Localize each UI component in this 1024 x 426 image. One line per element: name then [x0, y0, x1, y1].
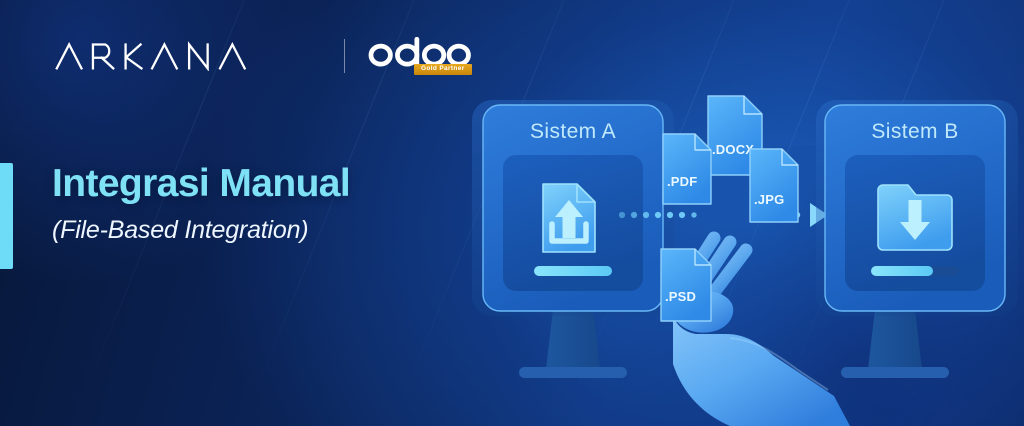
file-card-pdf: .PDF [663, 134, 711, 204]
file-label-pdf: .PDF [667, 174, 697, 189]
integration-illustration: Sistem A [430, 72, 1024, 426]
system-b-monitor: Sistem B [816, 100, 1018, 378]
system-b-label: Sistem B [871, 120, 958, 143]
system-a-stand [546, 310, 600, 369]
document-upload-icon [543, 184, 595, 252]
odoo-logo [367, 37, 473, 67]
system-b-progress-fill [871, 266, 933, 276]
system-b-stand [868, 310, 922, 369]
arkana-logo [55, 41, 320, 71]
file-card-jpg: .JPG [750, 149, 798, 222]
system-a-monitor: Sistem A [472, 100, 674, 378]
folder-download-icon [878, 185, 952, 250]
page-subtitle: (File-Based Integration) [52, 216, 350, 245]
odoo-logo-group: Gold Partner [367, 37, 473, 75]
logo-divider [344, 39, 345, 73]
file-card-psd: .PSD [661, 249, 711, 321]
file-label-psd: .PSD [665, 289, 696, 304]
system-b-stand-base [841, 367, 949, 378]
page-title: Integrasi Manual [52, 163, 350, 205]
file-label-jpg: .JPG [754, 192, 784, 207]
system-a-stand-base [519, 367, 627, 378]
system-a-label: Sistem A [530, 120, 616, 143]
banner-root: Gold Partner Integrasi Manual (File-Base… [0, 0, 1024, 426]
left-accent-bar [0, 163, 13, 269]
brand-logo-row: Gold Partner [55, 34, 473, 78]
file-label-docx: .DOCX [712, 142, 754, 157]
system-a-status-bar [534, 266, 612, 276]
headline-block: Integrasi Manual (File-Based Integration… [52, 163, 350, 245]
